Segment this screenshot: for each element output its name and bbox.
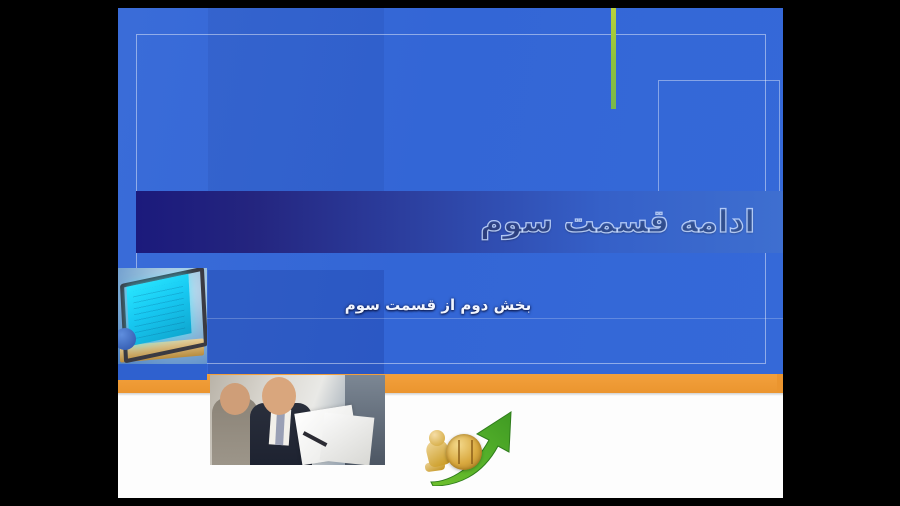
green-accent-line-icon [611,8,616,109]
businessmen-photo [210,375,385,465]
title-band: ادامه قسمت سوم [136,191,783,253]
growth-graphic [425,396,535,486]
presentation-slide: ادامه قسمت سوم بخش دوم از قسمت سوم [118,8,783,498]
gold-figure-head [429,430,445,446]
laptop-photo-bottom-strip [118,364,207,380]
businessman-left-head [220,383,250,415]
video-letterbox-stage: ادامه قسمت سوم بخش دوم از قسمت سوم [0,0,900,506]
laptop-photo [118,268,207,380]
businessman-right-head [262,377,296,415]
decorative-horizontal-rule [118,318,783,319]
orange-divider-notch [777,374,783,393]
businessman-right-tie [275,413,285,445]
document-sheet-two [320,413,375,465]
gold-coin-icon [446,434,482,470]
slide-title: ادامه قسمت سوم [480,191,755,253]
decorative-outline-small [658,80,780,200]
slide-subtitle: بخش دوم از قسمت سوم [118,296,758,314]
